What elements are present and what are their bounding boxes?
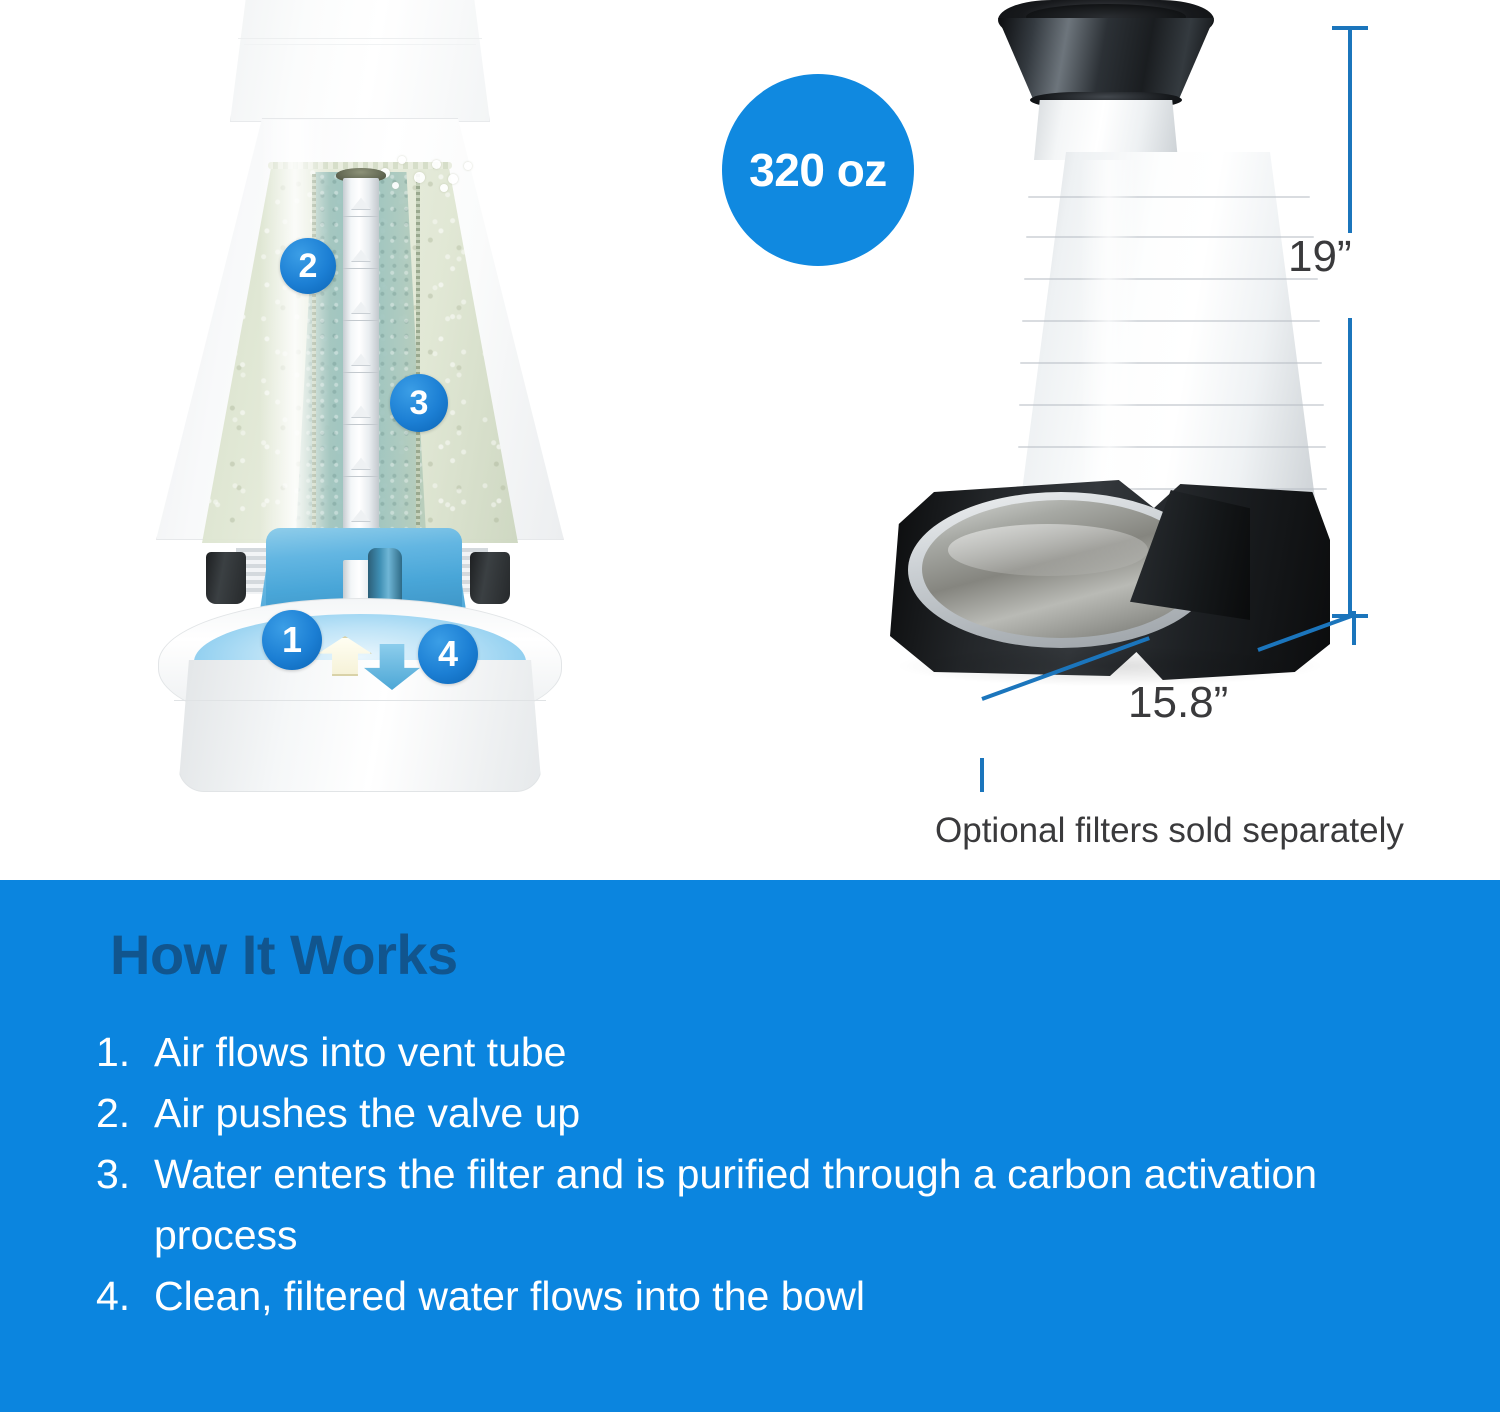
vent-segment (343, 216, 379, 217)
callout-badge-3: 3 (390, 374, 448, 432)
callout-badge-2-label: 2 (299, 247, 318, 286)
air-bubbles (376, 152, 486, 192)
callout-badge-4: 4 (418, 624, 478, 684)
list-item-number: 4. (96, 1266, 154, 1327)
callout-badge-1-label: 1 (282, 619, 302, 661)
how-it-works-title: How It Works (110, 922, 458, 987)
how-it-works-panel: How It Works 1. Air flows into vent tube… (0, 880, 1500, 1412)
list-item: 4. Clean, filtered water flows into the … (96, 1266, 1436, 1327)
diagram-base-lip (174, 700, 546, 701)
neck-seam-line-2 (244, 44, 476, 45)
vent-segment (343, 424, 379, 425)
list-item: 3. Water enters the filter and is purifi… (96, 1144, 1436, 1266)
list-item: 1. Air flows into vent tube (96, 1022, 1436, 1083)
height-dimension-line-lower (1348, 318, 1352, 618)
callout-badge-1: 1 (262, 610, 322, 670)
filter-edge-right (416, 174, 420, 538)
vent-segment (343, 320, 379, 321)
base-foot-right (470, 552, 510, 604)
reservoir-body-photo (1018, 152, 1318, 522)
reservoir-highlight-photo (1080, 160, 1138, 520)
bowl-highlight (948, 524, 1148, 576)
infographic-page: 2 3 1 4 320 oz (0, 0, 1500, 1412)
reservoir-neck-photo (1034, 100, 1178, 160)
list-item-number: 3. (96, 1144, 154, 1205)
black-lid (998, 18, 1214, 98)
list-item-number: 1. (96, 1022, 154, 1083)
list-item-text: Air pushes the valve up (154, 1083, 1436, 1144)
list-item: 2. Air pushes the valve up (96, 1083, 1436, 1144)
vent-segment (343, 372, 379, 373)
callout-badge-4-label: 4 (438, 633, 458, 675)
callout-badge-3-label: 3 (410, 384, 429, 423)
height-dimension-label: 19” (1288, 232, 1408, 282)
list-item-text: Clean, filtered water flows into the bow… (154, 1266, 1436, 1327)
diagram-base (178, 660, 542, 792)
width-dimension-tick-left (980, 758, 984, 792)
height-dimension-line-upper (1348, 28, 1352, 233)
vent-segment (343, 268, 379, 269)
top-white-section: 2 3 1 4 320 oz (0, 0, 1500, 880)
product-photo (830, 0, 1330, 720)
list-item-text: Air flows into vent tube (154, 1022, 1436, 1083)
cutaway-diagram: 2 3 1 4 (140, 0, 580, 800)
width-dimension-label: 15.8” (1128, 678, 1288, 728)
callout-badge-2: 2 (280, 238, 336, 294)
reservoir-neck (230, 0, 490, 122)
how-it-works-list: 1. Air flows into vent tube 2. Air pushe… (96, 1022, 1436, 1327)
width-dimension-tick-right (1352, 611, 1356, 645)
base-foot-left (206, 552, 246, 604)
filters-disclaimer: Optional filters sold separately (935, 811, 1480, 851)
list-item-text: Water enters the filter and is purified … (154, 1144, 1436, 1266)
filter-edge-left (312, 174, 316, 538)
vent-segment (343, 476, 379, 477)
list-item-number: 2. (96, 1083, 154, 1144)
neck-seam-line (238, 38, 482, 39)
